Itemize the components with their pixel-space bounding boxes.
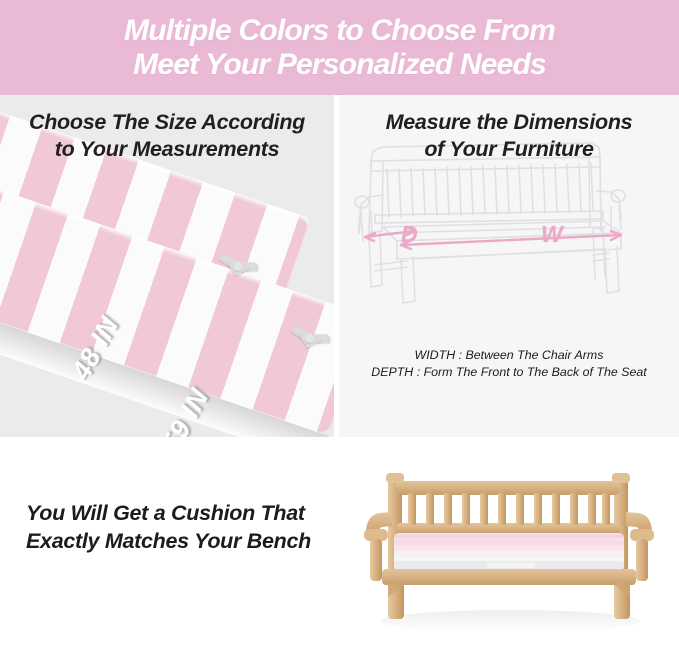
header-title-line-2: Meet Your Personalized Needs (133, 48, 546, 82)
panel-right-title-line-2: of Your Furniture (339, 136, 679, 163)
caption-width: WIDTH : Between The Chair Arms (339, 347, 679, 364)
panel-left-title-line-1: Choose The Size According (29, 110, 305, 134)
panel-measure-dimensions: Measure the Dimensions of Your Furniture (339, 95, 679, 437)
mid-section: 48 IN 59 IN Choose The Size According to… (0, 95, 679, 437)
header-title-line-1: Multiple Colors to Choose From (124, 14, 555, 48)
bottom-headline-line-2: Exactly Matches Your Bench (26, 527, 346, 555)
measure-caption: WIDTH : Between The Chair Arms DEPTH : F… (339, 347, 679, 381)
bottom-section: You Will Get a Cushion That Exactly Matc… (0, 437, 679, 649)
header-banner: Multiple Colors to Choose From Meet Your… (0, 0, 679, 95)
wooden-bench-photo (352, 449, 668, 639)
panel-left-title: Choose The Size According to Your Measur… (0, 95, 334, 163)
panel-right-title: Measure the Dimensions of Your Furniture (339, 95, 679, 163)
bottom-headline: You Will Get a Cushion That Exactly Matc… (26, 499, 346, 555)
panel-right-title-line-1: Measure the Dimensions (386, 110, 633, 134)
wooden-bench-svg (352, 449, 668, 639)
panel-left-title-line-2: to Your Measurements (0, 136, 334, 163)
depth-letter-label: D (401, 221, 418, 248)
bottom-headline-line-1: You Will Get a Cushion That (26, 499, 346, 527)
caption-depth: DEPTH : Form The Front to The Back of Th… (339, 364, 679, 381)
width-letter-label: W (541, 221, 563, 248)
infographic-page: Multiple Colors to Choose From Meet Your… (0, 0, 679, 649)
panel-choose-size: 48 IN 59 IN Choose The Size According to… (0, 95, 334, 437)
